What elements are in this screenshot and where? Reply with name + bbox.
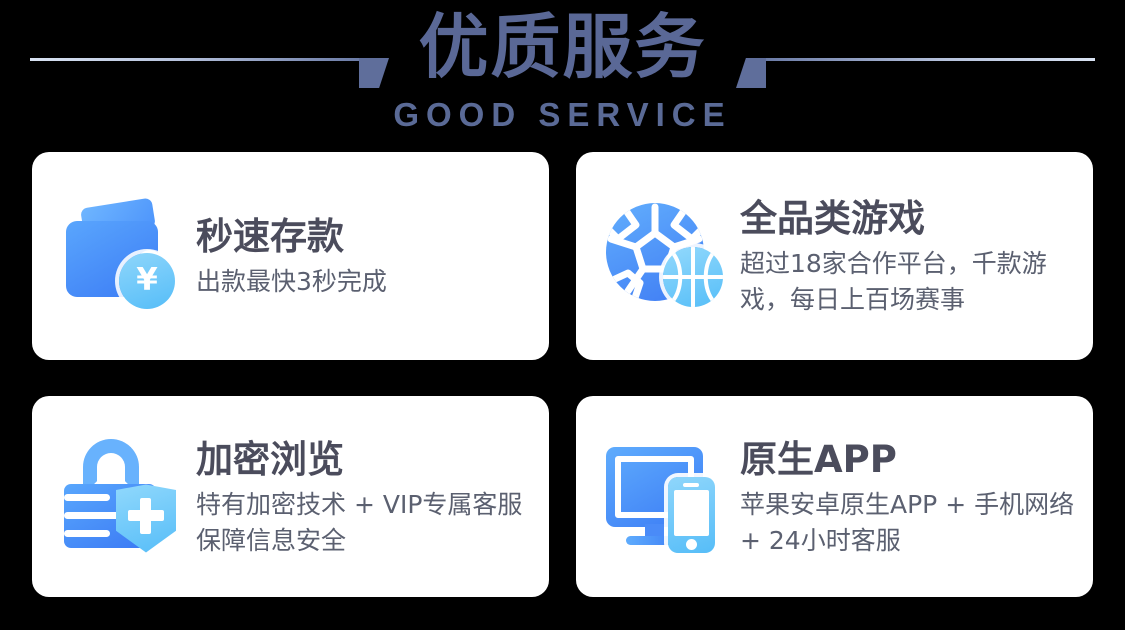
service-card-app[interactable]: 原生APP 苹果安卓原生APP + 手机网络 + 24小时客服 (576, 396, 1093, 597)
cross-icon (140, 498, 151, 534)
service-card-deposit[interactable]: ¥ 秒速存款 出款最快3秒完成 (32, 152, 549, 360)
page-header: 优质服务 GOOD SERVICE (0, 0, 1125, 146)
monitor-phone-icon (604, 436, 726, 558)
service-card-encryption[interactable]: 加密浏览 特有加密技术 + VIP专属客服保障信息安全 (32, 396, 549, 597)
yen-symbol: ¥ (136, 265, 158, 296)
card-title: 原生APP (740, 437, 1075, 483)
service-card-games[interactable]: 全品类游戏 超过18家合作平台，千款游戏，每日上百场赛事 (576, 152, 1093, 360)
card-subtitle: 苹果安卓原生APP + 手机网络 + 24小时客服 (740, 487, 1075, 559)
service-card-grid: ¥ 秒速存款 出款最快3秒完成 (32, 152, 1093, 597)
page-title: 优质服务 (0, 8, 1125, 86)
card-subtitle: 特有加密技术 + VIP专属客服保障信息安全 (196, 487, 526, 559)
lock-shield-icon (60, 436, 182, 558)
card-subtitle: 超过18家合作平台，千款游戏，每日上百场赛事 (740, 246, 1075, 318)
wallet-yen-icon: ¥ (60, 195, 182, 317)
service-card-encryption-text: 加密浏览 特有加密技术 + VIP专属客服保障信息安全 (196, 435, 526, 559)
lock-slot-line (64, 512, 122, 519)
card-title: 加密浏览 (196, 437, 526, 483)
lock-slot-line (64, 530, 110, 537)
basketball-icon (663, 247, 723, 307)
soccer-basketball-icon (604, 195, 726, 317)
service-card-games-text: 全品类游戏 超过18家合作平台，千款游戏，每日上百场赛事 (740, 194, 1075, 318)
card-title: 秒速存款 (196, 214, 387, 260)
card-title: 全品类游戏 (740, 196, 1075, 242)
lock-slot-line (64, 494, 110, 501)
phone-screen-icon (674, 490, 709, 536)
yen-coin-icon: ¥ (119, 253, 175, 309)
card-subtitle: 出款最快3秒完成 (196, 264, 387, 300)
page-subtitle: GOOD SERVICE (0, 96, 1125, 134)
phone-speaker-icon (683, 483, 699, 487)
service-card-deposit-text: 秒速存款 出款最快3秒完成 (196, 212, 387, 300)
service-card-app-text: 原生APP 苹果安卓原生APP + 手机网络 + 24小时客服 (740, 435, 1075, 559)
phone-home-button-icon (686, 539, 697, 550)
